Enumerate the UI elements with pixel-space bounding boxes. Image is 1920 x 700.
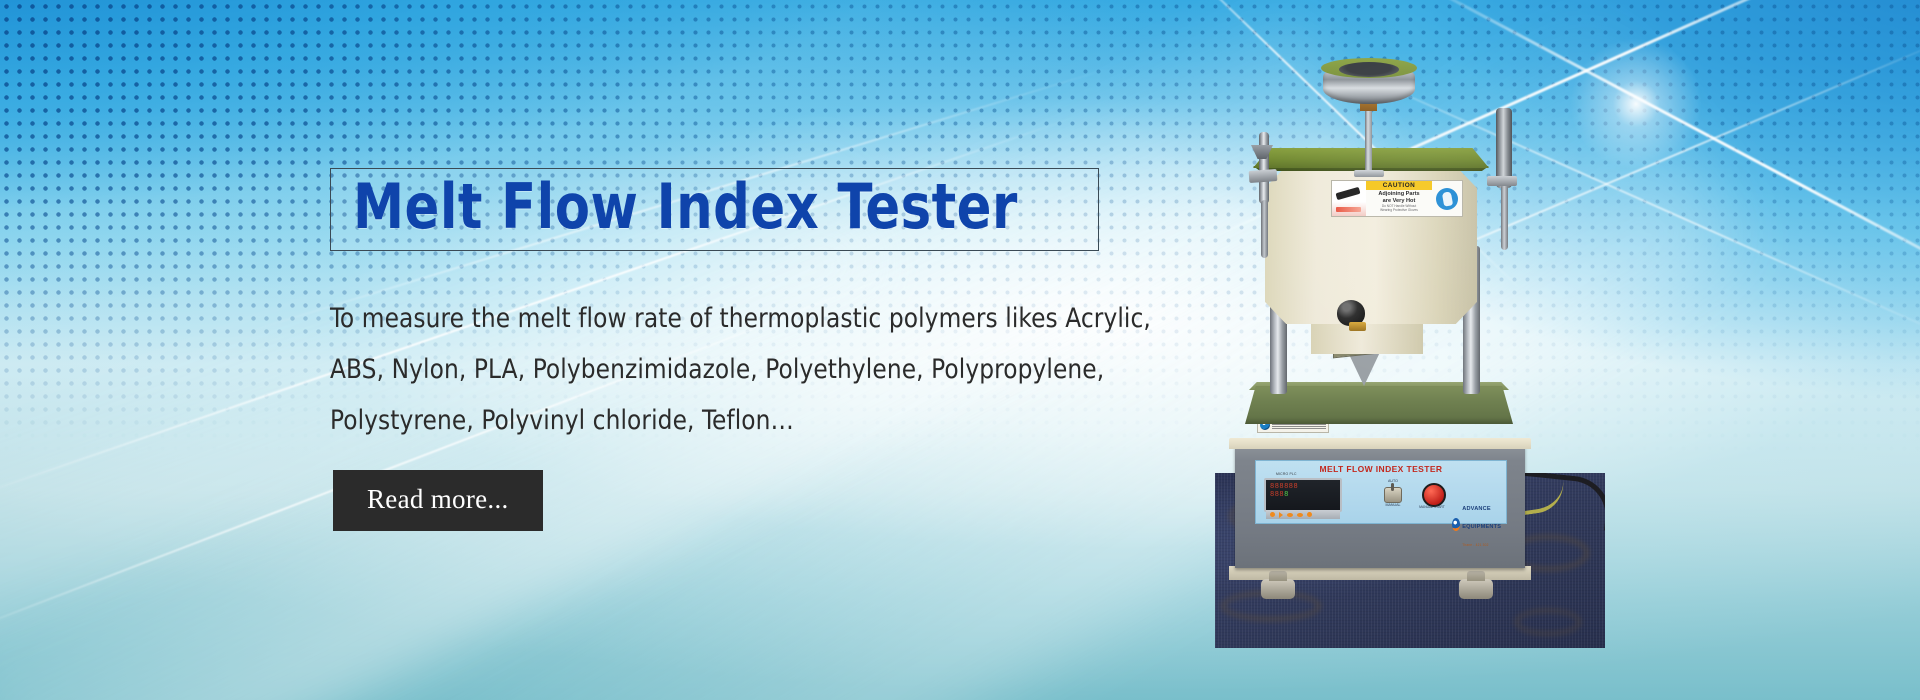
piston-collar [1354, 170, 1384, 177]
description-line-1: To measure the melt flow rate of thermop… [330, 293, 1031, 344]
page-title-box: Melt Flow Index Tester [330, 168, 1099, 251]
mode-switch[interactable] [1384, 487, 1402, 503]
machine-foot-left [1261, 579, 1295, 599]
rod-clamp-right [1487, 176, 1517, 186]
display-value-top: 888888 [1270, 483, 1298, 491]
banner-copy: Melt Flow Index Tester To measure the me… [330, 168, 1070, 446]
brand-logo: ADVANCE EQUIPMENTS Thane - 421 302 [1452, 497, 1506, 551]
test-weight-bore [1339, 62, 1399, 77]
display-power-icon[interactable] [1270, 512, 1275, 517]
caution-text-block: CAUTION Adjoining Parts are Very Hot Do … [1366, 181, 1432, 216]
description-line-3: Polystyrene, Polyvinyl chloride, Teflon… [330, 395, 1031, 446]
piston-rod [1365, 110, 1372, 176]
brass-fitting [1349, 322, 1366, 331]
manual-start-button[interactable] [1422, 483, 1446, 507]
brand-logo-icon [1452, 518, 1460, 531]
read-more-button[interactable]: Read more... [333, 470, 543, 531]
display-down-arrow-icon[interactable] [1287, 513, 1293, 517]
brand-location: Thane - 421 302 [1462, 543, 1488, 547]
hero-banner: Melt Flow Index Tester To measure the me… [0, 0, 1920, 700]
hot-surface-hand-icon [1332, 181, 1366, 216]
cloth-mark-4 [1515, 609, 1581, 635]
control-panel: MELT FLOW INDEX TESTER MICRO PLC 888888 … [1255, 460, 1507, 524]
guide-rod-right-lower [1501, 184, 1508, 250]
display-button-row[interactable] [1266, 510, 1340, 519]
caution-header: CAUTION [1366, 181, 1432, 190]
caution-label: CAUTION Adjoining Parts are Very Hot Do … [1331, 180, 1463, 217]
display-label: MICRO PLC [1276, 472, 1297, 476]
display-set-icon[interactable] [1307, 512, 1312, 517]
brand-name: ADVANCE EQUIPMENTS [1462, 506, 1501, 530]
caution-line-1: Adjoining Parts [1366, 190, 1432, 197]
product-photo: MELT FLOW INDEX TESTER MICRO PLC 888888 … [1215, 50, 1615, 650]
description-line-2: ABS, Nylon, PLA, Polybenzimidazole, Poly… [330, 344, 1031, 395]
display-value-green: 8 [1284, 491, 1289, 499]
page-title: Melt Flow Index Tester [353, 177, 1018, 238]
rod-clamp-left [1249, 169, 1278, 183]
base-top-lip [1229, 438, 1531, 449]
guide-rod-left-lower [1261, 200, 1268, 258]
display-up-arrow-icon[interactable] [1297, 513, 1303, 517]
display-digits: 888888 8888 [1270, 483, 1298, 499]
mode-switch-bottom-label: MANUAL [1380, 503, 1406, 507]
wear-gloves-icon [1432, 181, 1462, 216]
caution-line-4: Wearing Protective Gloves [1366, 209, 1432, 213]
display-value-bottom: 888 [1270, 491, 1284, 499]
machine-foot-right [1459, 579, 1493, 599]
guide-rod-left [1259, 132, 1269, 204]
banner-description: To measure the melt flow rate of thermop… [330, 293, 1031, 446]
digital-display: 888888 8888 [1264, 478, 1342, 512]
manual-start-label: MANUAL START [1414, 505, 1450, 509]
display-right-arrow-icon[interactable] [1279, 512, 1283, 518]
